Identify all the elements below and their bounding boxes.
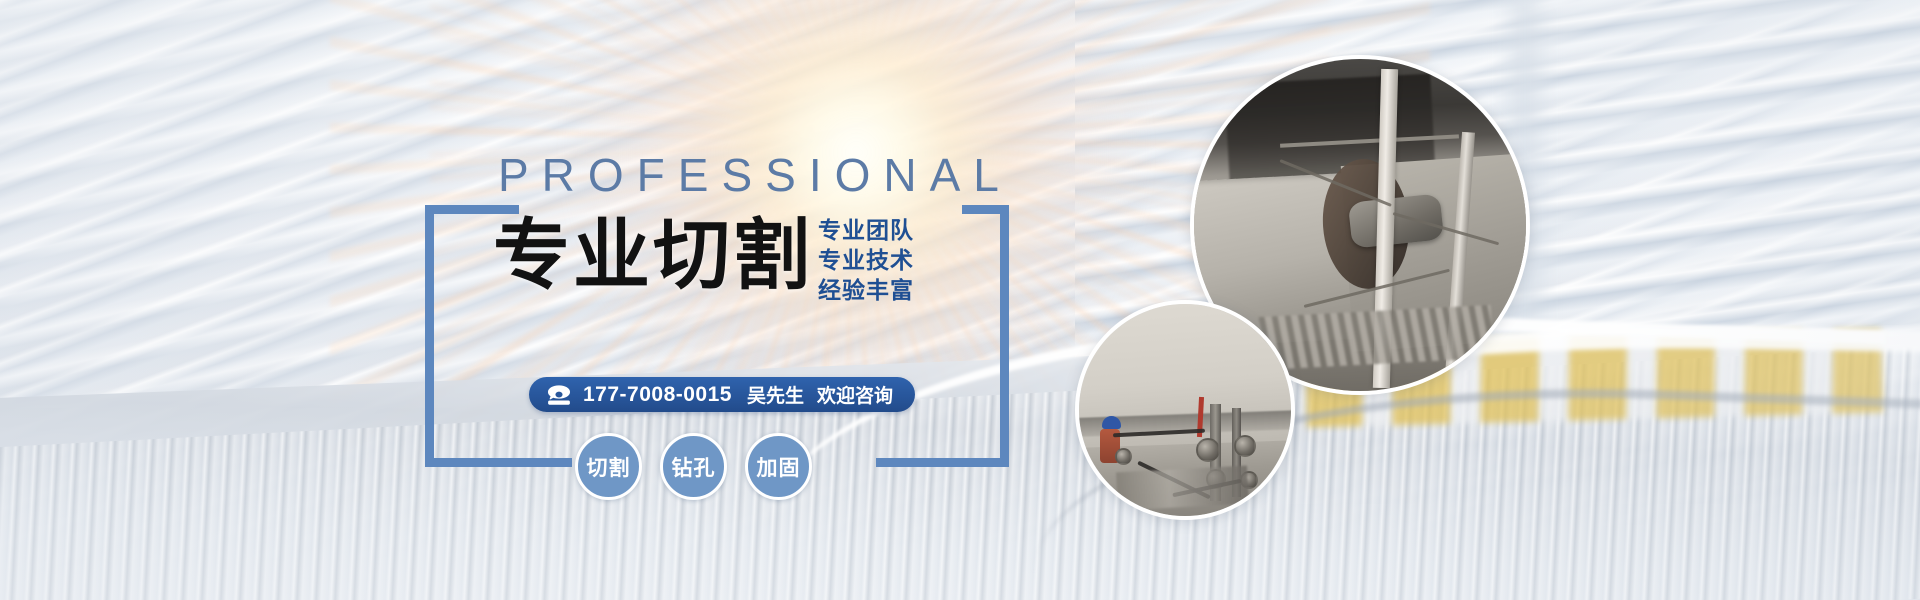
promo-banner: PROFESSIONAL 专业切割 专业团队 专业技术 经验丰富 177-700…	[0, 0, 1920, 600]
contact-bar[interactable]: 177-7008-0015 吴先生 欢迎咨询	[529, 377, 915, 412]
service-tag-list: 切割 钻孔 加固	[575, 433, 812, 500]
telephone-icon	[546, 384, 572, 406]
bracket-left-edge	[425, 205, 434, 467]
service-tag-cutting[interactable]: 切割	[575, 433, 642, 500]
photo-content	[1079, 304, 1291, 516]
wire-saw-worker-photo	[1075, 300, 1295, 520]
contact-person-name: 吴先生	[747, 381, 804, 408]
background-vignette	[0, 0, 1920, 600]
bracket-bottom-left-arm	[425, 458, 572, 467]
contact-cta-text: 欢迎咨询	[817, 381, 893, 408]
phone-number: 177-7008-0015	[583, 383, 732, 407]
feature-item-2: 专业技术	[818, 245, 914, 275]
photo-worker-helmet	[1102, 416, 1121, 429]
bracket-right-edge	[1000, 205, 1009, 467]
feature-list: 专业团队 专业技术 经验丰富	[818, 215, 914, 305]
page-title: 专业切割	[493, 218, 813, 295]
photo-cut-section	[1116, 466, 1249, 511]
eyebrow-text: PROFESSIONAL	[498, 152, 1012, 198]
feature-item-1: 专业团队	[818, 215, 914, 245]
feature-item-3: 经验丰富	[818, 275, 914, 305]
bracket-bottom-right-arm	[876, 458, 1009, 467]
service-tag-reinforcement[interactable]: 加固	[745, 433, 812, 500]
photo-pulley	[1196, 438, 1220, 462]
service-tag-drilling[interactable]: 钻孔	[660, 433, 727, 500]
